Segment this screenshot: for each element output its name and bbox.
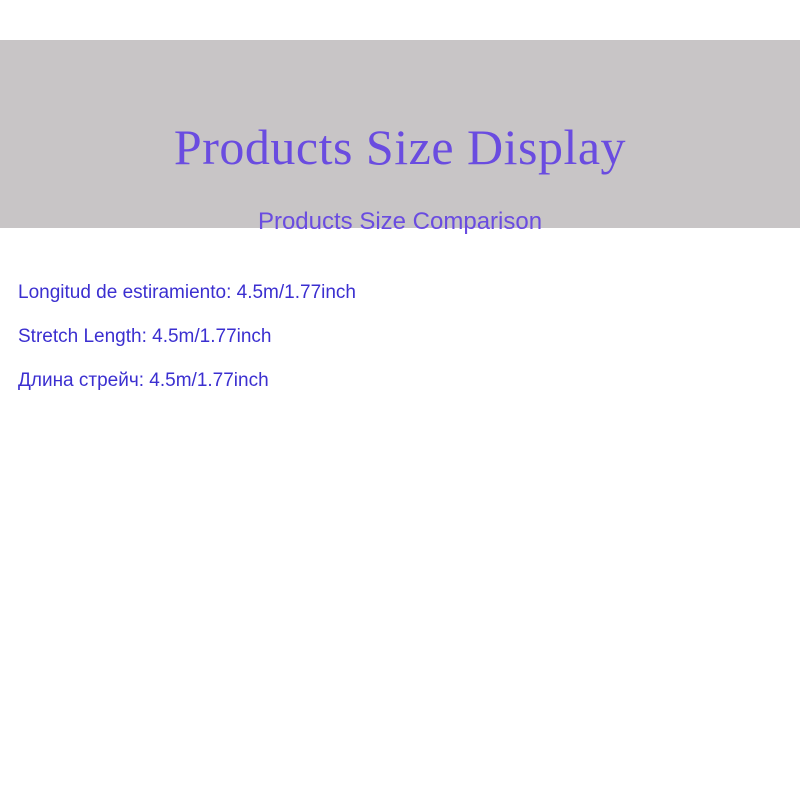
product-comparison-row: 2.5cm/0.98inch 2.5cm*4.5m S 5cm/1.96inch… (0, 0, 800, 800)
product-size-display-page: Products Size Display Products Size Comp… (0, 0, 800, 800)
